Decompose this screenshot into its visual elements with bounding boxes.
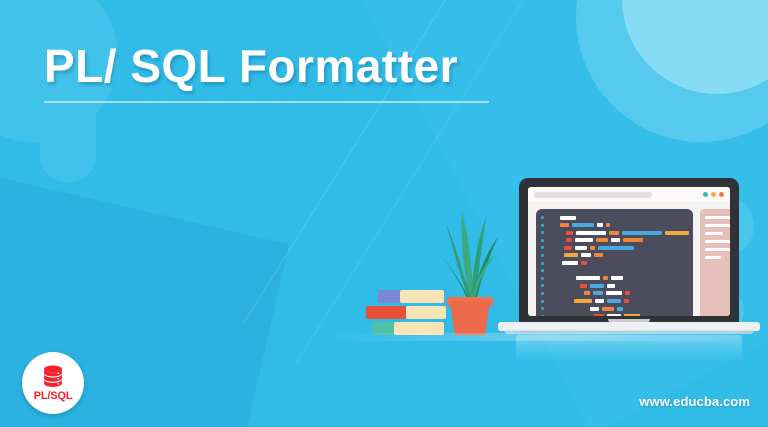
title-underline	[44, 101, 489, 103]
code-token	[590, 246, 595, 250]
browser-url-bar[interactable]	[534, 192, 652, 198]
book-spine	[366, 306, 406, 319]
code-token	[566, 238, 572, 242]
code-token	[607, 284, 615, 288]
browser-dot-3[interactable]	[719, 192, 724, 197]
browser-toolbar	[528, 187, 730, 202]
code-token	[593, 291, 603, 295]
plant-illustration	[430, 205, 508, 335]
line-number-marker	[541, 239, 544, 242]
code-token	[617, 307, 623, 311]
line-number-marker	[541, 262, 544, 265]
code-token	[575, 238, 593, 242]
browser-window-dots	[703, 192, 724, 197]
laptop-illustration	[498, 178, 760, 343]
code-token	[575, 246, 587, 250]
side-panel-line	[705, 232, 723, 235]
code-token	[590, 307, 599, 311]
line-number-marker	[541, 277, 544, 280]
book-spine	[378, 290, 400, 303]
code-token	[607, 299, 621, 303]
code-token	[607, 314, 621, 316]
line-number-marker	[541, 315, 544, 316]
line-number-marker	[541, 231, 544, 234]
code-token	[665, 231, 689, 235]
database-icon	[40, 364, 66, 390]
code-token	[625, 291, 630, 295]
code-token	[576, 231, 606, 235]
code-token	[622, 231, 662, 235]
code-line	[541, 238, 689, 243]
code-token	[596, 238, 608, 242]
banner: PL/ SQL Formatter	[0, 0, 768, 427]
laptop-screen	[528, 187, 730, 316]
side-panel-line	[705, 240, 730, 243]
code-line	[541, 276, 689, 281]
code-line	[541, 314, 689, 316]
background-rounded-shape-left	[40, 96, 96, 182]
line-number-marker	[541, 224, 544, 227]
code-token	[590, 284, 604, 288]
site-url[interactable]: www.educba.com	[639, 394, 750, 409]
code-token	[566, 231, 573, 235]
code-token	[598, 246, 634, 250]
code-token	[624, 314, 640, 316]
code-line	[541, 230, 689, 235]
code-token	[594, 314, 604, 316]
code-token	[602, 307, 614, 311]
plsql-logo-badge: PL/SQL	[22, 352, 84, 414]
code-line	[541, 306, 689, 311]
code-line	[541, 291, 689, 296]
line-number-marker	[541, 300, 544, 303]
line-number-marker	[541, 246, 544, 249]
editor-side-panel[interactable]	[700, 209, 730, 316]
code-line	[541, 283, 689, 288]
code-token	[562, 261, 578, 265]
editor-area	[528, 202, 730, 316]
code-token	[580, 284, 587, 288]
code-token	[560, 216, 576, 220]
line-number-marker	[541, 307, 544, 310]
code-token	[574, 299, 592, 303]
side-panel-line	[705, 216, 730, 219]
code-line	[541, 253, 689, 258]
code-line	[541, 223, 689, 228]
code-token	[595, 299, 604, 303]
page-title: PL/ SQL Formatter	[44, 38, 564, 94]
code-line	[541, 245, 689, 250]
code-token	[624, 299, 629, 303]
line-number-marker	[541, 216, 544, 219]
side-panel-line	[705, 256, 721, 259]
code-token	[560, 223, 569, 227]
code-token	[603, 276, 608, 280]
browser-dot-1[interactable]	[703, 192, 708, 197]
code-line	[541, 299, 689, 304]
code-token	[597, 223, 603, 227]
code-line	[541, 215, 689, 220]
plant-leaves-icon	[430, 205, 508, 305]
title-block: PL/ SQL Formatter	[44, 38, 564, 103]
code-token	[609, 231, 619, 235]
code-editor-pane[interactable]	[536, 209, 693, 316]
code-token	[581, 261, 587, 265]
laptop-lid	[519, 178, 739, 325]
plant-pot	[450, 301, 490, 335]
side-panel-line	[705, 248, 730, 251]
line-number-marker	[541, 254, 544, 257]
code-token	[623, 238, 643, 242]
plsql-logo-text: PL/SQL	[34, 391, 73, 402]
code-token	[564, 246, 572, 250]
code-token	[584, 291, 590, 295]
line-number-marker	[541, 284, 544, 287]
ground-shine	[330, 333, 760, 341]
code-token	[606, 223, 610, 227]
line-number-marker	[541, 292, 544, 295]
line-number-marker	[541, 269, 544, 272]
code-token	[594, 253, 603, 257]
code-line	[541, 268, 689, 273]
code-token	[581, 253, 591, 257]
code-token	[576, 276, 600, 280]
code-line	[541, 261, 689, 266]
code-token	[611, 238, 620, 242]
browser-dot-2[interactable]	[711, 192, 716, 197]
code-token	[572, 223, 594, 227]
code-token	[606, 291, 622, 295]
side-panel-line	[705, 224, 730, 227]
code-token	[611, 276, 623, 280]
code-token	[564, 253, 578, 257]
